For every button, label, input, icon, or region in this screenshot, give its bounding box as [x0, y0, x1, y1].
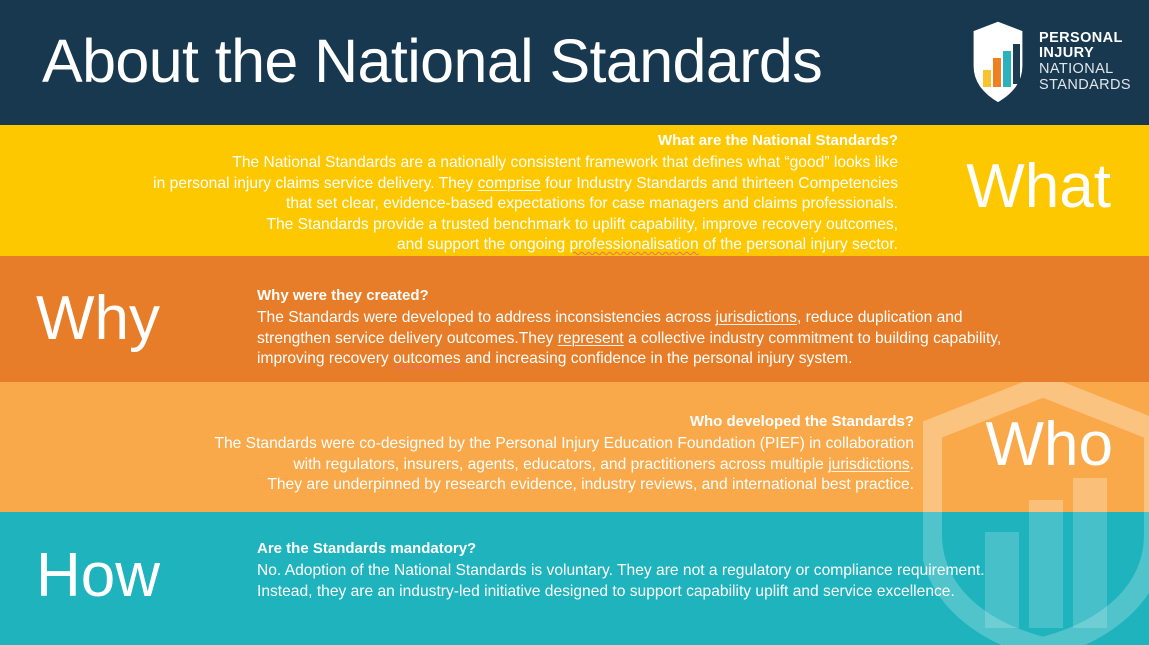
- section-line: The Standards were co-designed by the Pe…: [214, 434, 914, 455]
- logo-line-injury: INJURY: [1039, 46, 1131, 62]
- logo-line-national: NATIONAL: [1039, 62, 1131, 78]
- section-copy-how: Are the Standards mandatory? No. Adoptio…: [257, 539, 985, 602]
- section-line: with regulators, insurers, agents, educa…: [214, 455, 914, 476]
- header-bar: About the National Standards PERSONAL IN…: [0, 0, 1149, 125]
- shield-bar-chart-logo-icon: [968, 18, 1028, 106]
- section-keyword-how: How: [36, 545, 160, 607]
- section-line: Instead, they are an industry-led initia…: [257, 582, 985, 603]
- section-line: No. Adoption of the National Standards i…: [257, 561, 985, 582]
- section-line: They are underpinned by research evidenc…: [214, 475, 914, 496]
- logo-line-personal: PERSONAL: [1039, 31, 1131, 47]
- section-question-what: What are the National Standards?: [153, 131, 898, 151]
- section-line: The Standards were developed to address …: [257, 308, 1001, 329]
- infographic-poster: About the National Standards PERSONAL IN…: [0, 0, 1149, 645]
- section-line: in personal injury claims service delive…: [153, 174, 898, 195]
- section-copy-why: Why were they created? The Standards wer…: [257, 286, 1001, 370]
- logo-line-standards: STANDARDS: [1039, 78, 1131, 94]
- page-title: About the National Standards: [42, 17, 822, 105]
- section-line: The National Standards are a nationally …: [153, 153, 898, 174]
- brand-logo: PERSONAL INJURY NATIONAL STANDARDS: [968, 16, 1133, 108]
- section-copy-who: Who developed the Standards? The Standar…: [214, 412, 914, 496]
- section-question-how: Are the Standards mandatory?: [257, 539, 985, 559]
- section-line: improving recovery outcomes and increasi…: [257, 349, 1001, 370]
- section-keyword-who: Who: [986, 414, 1113, 476]
- section-line: strengthen service delivery outcomes.The…: [257, 329, 1001, 350]
- section-keyword-why: Why: [36, 288, 160, 350]
- section-line: that set clear, evidence-based expectati…: [153, 194, 898, 215]
- section-copy-what: What are the National Standards? The Nat…: [153, 131, 898, 256]
- section-question-why: Why were they created?: [257, 286, 1001, 306]
- section-question-who: Who developed the Standards?: [214, 412, 914, 432]
- section-keyword-what: What: [966, 156, 1111, 218]
- logo-wordmark: PERSONAL INJURY NATIONAL STANDARDS: [1039, 31, 1131, 94]
- section-line: The Standards provide a trusted benchmar…: [153, 215, 898, 236]
- section-line: and support the ongoing professionalisat…: [153, 235, 898, 256]
